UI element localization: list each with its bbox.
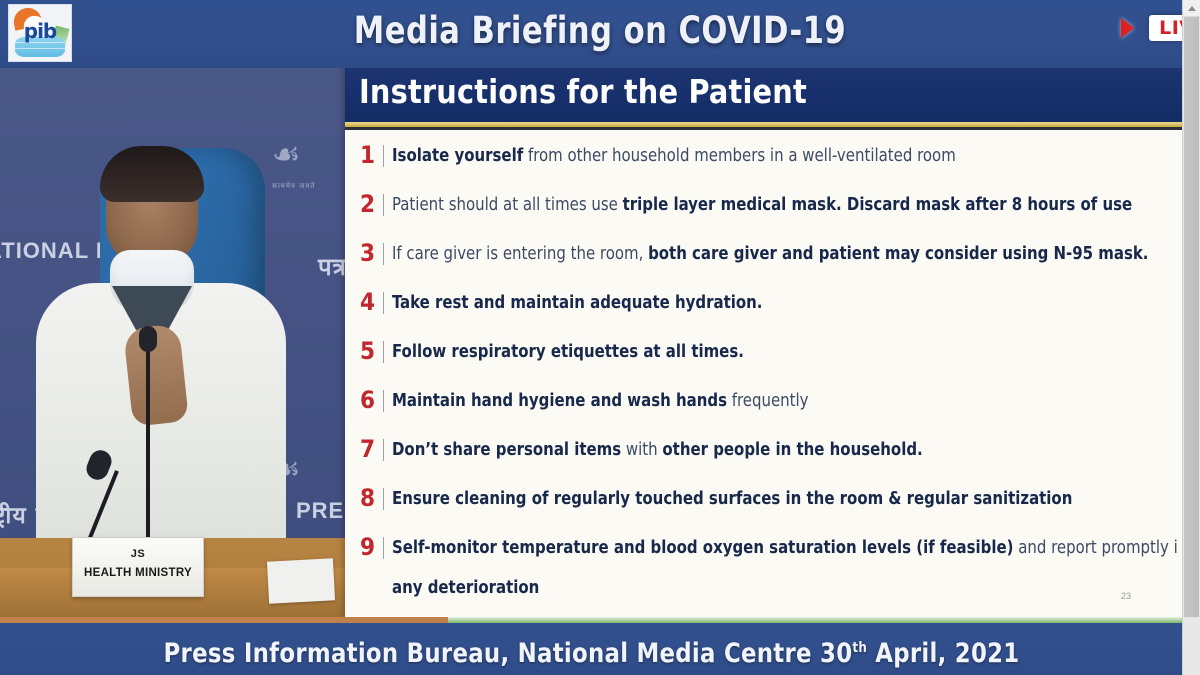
microphone-stem: [146, 338, 150, 538]
instruction-text-emphasis: triple layer medical mask. Discard mask …: [623, 195, 1133, 215]
instruction-item: 1Isolate yourself from other household m…: [345, 140, 1183, 189]
instruction-text-emphasis: both care giver and patient may consider…: [648, 244, 1148, 264]
instruction-divider: [383, 537, 384, 559]
instruction-text-normal: from other household members in a well-v…: [523, 146, 956, 166]
instructions-list: 1Isolate yourself from other household m…: [345, 130, 1183, 619]
instruction-number: 2: [359, 189, 375, 219]
instruction-item: 8Ensure cleaning of regularly touched su…: [345, 483, 1183, 532]
speaker-hair: [100, 146, 204, 202]
instruction-text: Isolate yourself from other household me…: [392, 140, 956, 171]
instruction-text: Don’t share personal items with other pe…: [392, 434, 923, 465]
instruction-divider: [383, 243, 384, 265]
instruction-text: Self-monitor temperature and blood oxyge…: [392, 532, 1178, 603]
slide-number: 23: [1121, 591, 1131, 601]
backdrop-text-press: PRE: [296, 498, 344, 524]
instruction-number: 6: [359, 385, 375, 415]
instruction-text-emphasis: Maintain hand hygiene and wash hands: [392, 391, 727, 411]
nameplate-ministry: HEALTH MINISTRY: [73, 567, 203, 579]
instruction-number: 3: [359, 238, 375, 268]
instruction-text: Patient should at all times use triple l…: [392, 189, 1132, 220]
instruction-number: 4: [359, 287, 375, 317]
backdrop-text-patra: पत्र: [318, 250, 345, 283]
instruction-text-emphasis: Self-monitor temperature and blood oxyge…: [392, 538, 1013, 558]
instruction-text: Follow respiratory etiquettes at all tim…: [392, 336, 744, 367]
instruction-item: 4Take rest and maintain adequate hydrati…: [345, 287, 1183, 336]
instruction-text-normal: Patient should at all times use: [392, 195, 623, 215]
emblem-caption: सत्यमेव जयते: [272, 170, 315, 202]
instruction-divider: [383, 292, 384, 314]
ashoka-emblem-icon: ☙सत्यमेव जयते: [272, 138, 315, 202]
instruction-number: 9: [359, 532, 375, 562]
instruction-divider: [383, 194, 384, 216]
speaker-nameplate: JS HEALTH MINISTRY: [72, 537, 204, 597]
desk-papers: [267, 558, 335, 603]
instruction-item: 7Don’t share personal items with other p…: [345, 434, 1183, 483]
scrollbar-thumb[interactable]: [1184, 17, 1199, 617]
instruction-number: 5: [359, 336, 375, 366]
instruction-item: 2Patient should at all times use triple …: [345, 189, 1183, 238]
play-arrow-icon: [1114, 14, 1142, 42]
footer-ordinal: th: [852, 640, 867, 656]
instruction-text: If care giver is entering the room, both…: [392, 238, 1148, 269]
footer-text-before: Press Information Bureau, National Media…: [164, 638, 853, 669]
instruction-text-normal: with: [621, 440, 662, 460]
instruction-item: 5Follow respiratory etiquettes at all ti…: [345, 336, 1183, 385]
instruction-text: Ensure cleaning of regularly touched sur…: [392, 483, 1072, 514]
instruction-divider: [383, 145, 384, 167]
instruction-text-emphasis: Isolate yourself: [392, 146, 523, 166]
microphone-icon: [139, 326, 157, 352]
instruction-text: Maintain hand hygiene and wash hands fre…: [392, 385, 809, 416]
page-title: Media Briefing on COVID-19: [48, 8, 1152, 53]
instruction-item: 9Self-monitor temperature and blood oxyg…: [345, 532, 1183, 619]
nameplate-designation: JS: [73, 548, 203, 560]
footer-text-after: April, 2021: [867, 638, 1019, 669]
instruction-text-emphasis: other people in the household.: [662, 440, 922, 460]
instruction-text-emphasis: Follow respiratory etiquettes at all tim…: [392, 342, 744, 362]
instruction-text-normal: If care giver is entering the room,: [392, 244, 648, 264]
instruction-number: 7: [359, 434, 375, 464]
instruction-divider: [383, 488, 384, 510]
slide-title: Instructions for the Patient: [359, 72, 807, 112]
instruction-divider: [383, 341, 384, 363]
instruction-number: 1: [359, 140, 375, 170]
instruction-item: 6Maintain hand hygiene and wash hands fr…: [345, 385, 1183, 434]
instruction-text-emphasis: Take rest and maintain adequate hydratio…: [392, 293, 762, 313]
instruction-text-normal: frequently: [727, 391, 809, 411]
instruction-text: Take rest and maintain adequate hydratio…: [392, 287, 762, 318]
vertical-scrollbar[interactable]: [1182, 0, 1200, 675]
instruction-text-normal: and report promptly i: [1013, 538, 1177, 558]
chevron-up-icon[interactable]: [1183, 0, 1200, 17]
instruction-divider: [383, 439, 384, 461]
pib-logo-wordmark: pib: [9, 19, 71, 43]
instruction-text-emphasis: Ensure cleaning of regularly touched sur…: [392, 489, 1072, 509]
instruction-item: 3If care giver is entering the room, bot…: [345, 238, 1183, 287]
presentation-slide: Instructions for the Patient 1Isolate yo…: [345, 62, 1183, 619]
broadcast-screen: ATIONAL ME ष्ट्रीय मीडि PRE पत्र ☙सत्यमे…: [0, 0, 1200, 675]
instruction-text-continuation: any deterioration: [392, 574, 1178, 603]
broadcast-header-bar: pib Media Briefing on COVID-19 LIVE: [0, 0, 1200, 68]
footer-caption: Press Information Bureau, National Media…: [35, 629, 1147, 673]
broadcast-footer-bar: Press Information Bureau, National Media…: [0, 623, 1183, 675]
instruction-text-emphasis: Don’t share personal items: [392, 440, 621, 460]
instruction-divider: [383, 390, 384, 412]
instruction-number: 8: [359, 483, 375, 513]
